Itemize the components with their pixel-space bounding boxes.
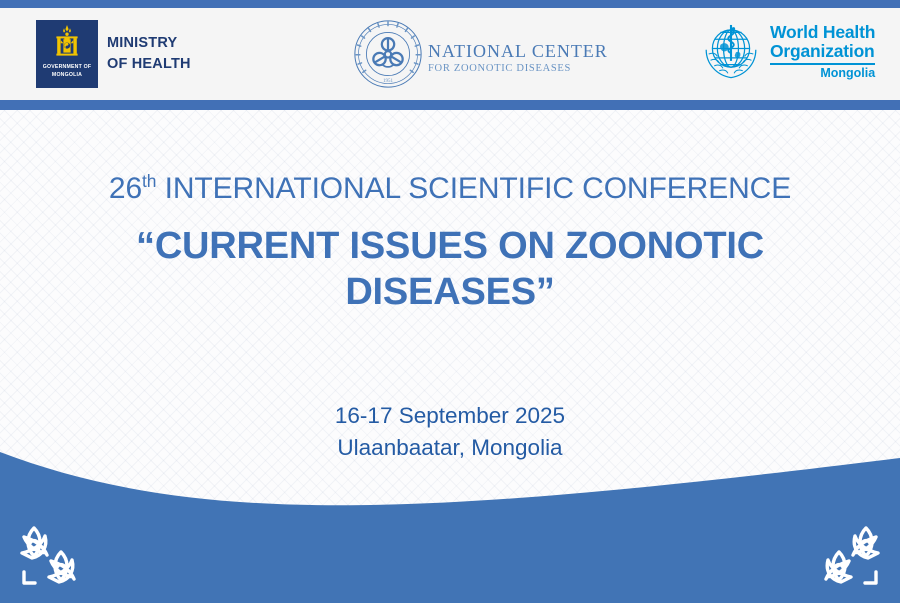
mongolian-knot-ornament-icon	[12, 522, 90, 590]
logo-national-center-zoonotic-diseases: 1951 NATIONAL CENTER FOR ZOONOTIC DISEAS…	[352, 18, 608, 90]
conference-title-slide: GOVERNMENT OFMONGOLIA MINISTRY OF HEALTH	[0, 0, 900, 603]
mongolian-knot-ornament-icon	[810, 522, 888, 590]
who-name: World Health Organization	[770, 23, 875, 61]
crest-caption-line-1: GOVERNMENT OF	[43, 64, 91, 70]
conference-theme: “CURRENT ISSUES ON ZOONOTIC DISEASES”	[0, 223, 900, 316]
conference-date-location: 16-17 September 2025 Ulaanbaatar, Mongol…	[0, 400, 900, 464]
header-separator-rule	[0, 100, 900, 110]
mongolia-government-crest: GOVERNMENT OFMONGOLIA	[36, 20, 98, 88]
ornament-bottom-left	[12, 522, 90, 590]
logo-ministry-of-health: GOVERNMENT OFMONGOLIA MINISTRY OF HEALTH	[36, 20, 191, 88]
wave-fill	[0, 452, 900, 603]
conference-ordinal-suffix: th	[142, 171, 156, 191]
who-country-label: Mongolia	[770, 67, 875, 80]
conference-ordinal-number: 26	[109, 172, 142, 205]
nczd-wordmark: NATIONAL CENTER FOR ZOONOTIC DISEASES	[428, 42, 608, 75]
conference-title-text: INTERNATIONAL SCIENTIFIC CONFERENCE	[165, 172, 792, 205]
title-block: 26th INTERNATIONAL SCIENTIFIC CONFERENCE…	[0, 110, 900, 464]
logo-world-health-organization: World Health Organization Mongolia	[700, 20, 875, 82]
crest-caption: GOVERNMENT OFMONGOLIA	[43, 64, 91, 79]
who-divider	[770, 63, 875, 65]
bottom-wave-decoration	[0, 440, 900, 603]
nczd-name-line-1: NATIONAL CENTER	[428, 42, 608, 60]
who-emblem-icon	[700, 20, 762, 82]
nczd-name-line-2: FOR ZOONOTIC DISEASES	[428, 64, 608, 75]
seal-year: 1951	[383, 78, 394, 84]
conference-ordinal-line: 26th INTERNATIONAL SCIENTIFIC CONFERENCE	[0, 172, 900, 205]
who-wordmark: World Health Organization Mongolia	[770, 23, 875, 80]
ornament-bottom-right	[810, 522, 888, 590]
soyombo-emblem-icon	[47, 23, 87, 63]
biohazard-seal-icon: 1951	[352, 18, 424, 90]
top-accent-rule	[0, 0, 900, 8]
crest-caption-line-2: MONGOLIA	[52, 72, 82, 78]
ministry-of-health-label: MINISTRY OF HEALTH	[107, 33, 191, 74]
